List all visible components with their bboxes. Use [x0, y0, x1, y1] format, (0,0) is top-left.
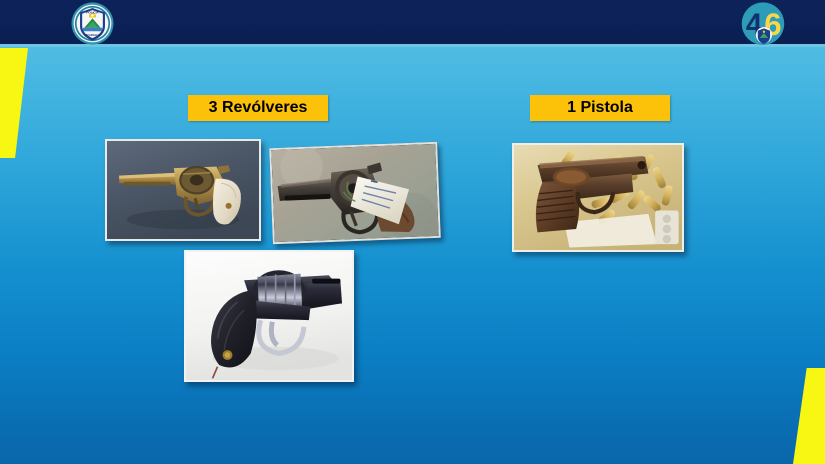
photo-revolver-2: [269, 142, 441, 244]
corner-accent-top-left: [0, 48, 28, 158]
section-label-revolvers: 3 Revólveres: [188, 95, 328, 121]
photo-pistol-1: [512, 143, 684, 252]
photo-revolver-1: [105, 139, 261, 241]
presentation-slide: 4 ARMAS DE FUEGO OCUPADAS POLICIA NICARA…: [0, 0, 825, 464]
photo-revolver-3: [184, 250, 354, 382]
anniversary-46-emblem: 4 6: [737, 1, 789, 51]
svg-text:NICARAGUA: NICARAGUA: [85, 33, 101, 37]
section-label-pistol: 1 Pistola: [530, 95, 670, 121]
header-underline: [0, 44, 825, 47]
svg-text:POLICIA: POLICIA: [86, 11, 99, 15]
police-badge-icon: POLICIA NICARAGUA: [71, 2, 114, 45]
corner-accent-bottom-right: [793, 368, 825, 464]
header-bar: [0, 0, 825, 44]
